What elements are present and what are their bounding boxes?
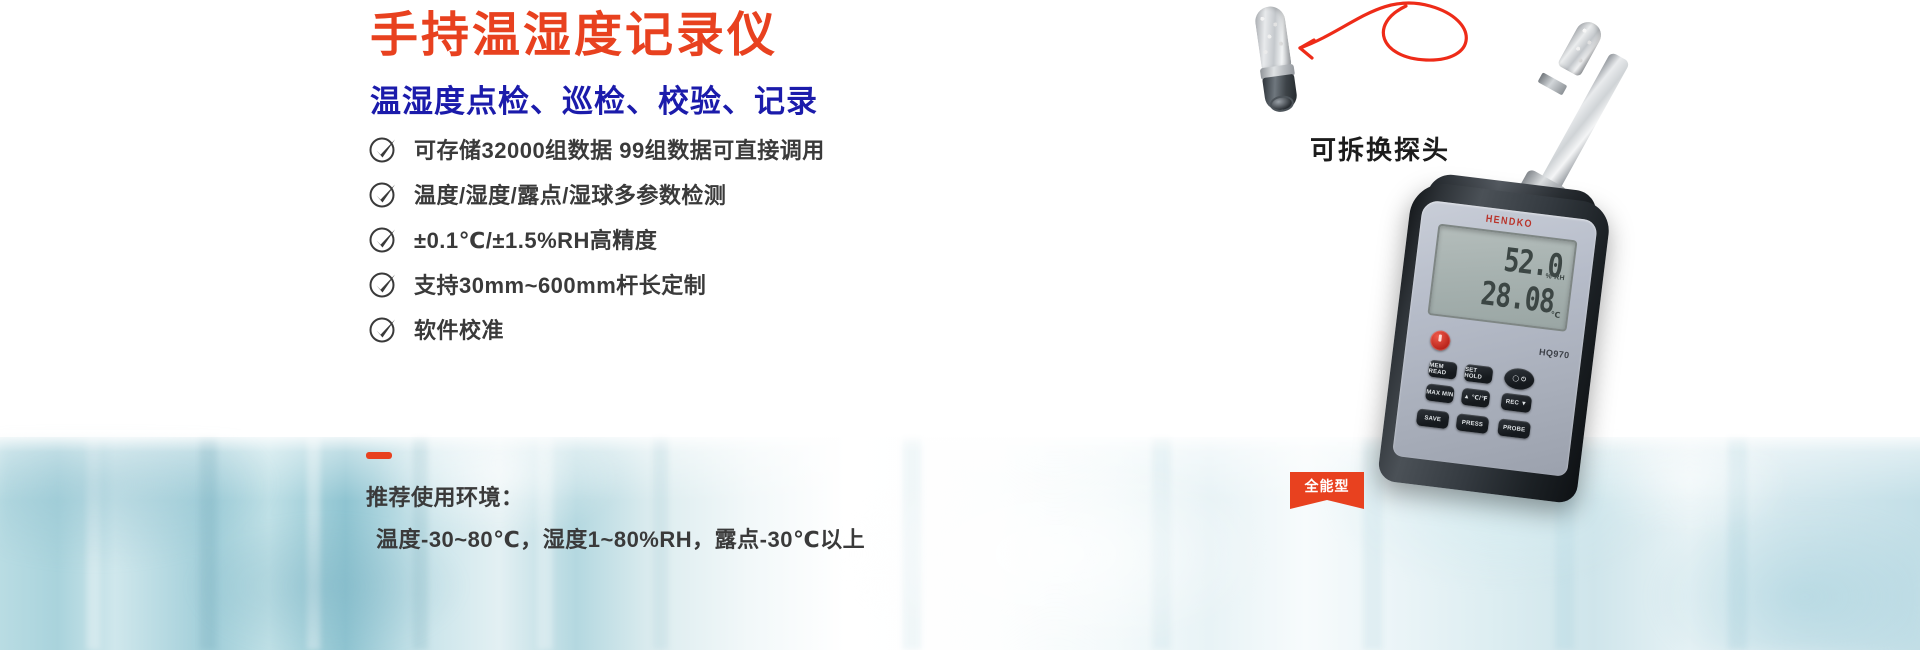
list-item: 支持30mm~600mm杆长定制 [368, 263, 825, 305]
product-banner: 手持温湿度记录仪 温湿度点检、巡检、校验、记录 可存储32000组数据 99组数… [0, 0, 1920, 650]
power-icon[interactable] [1429, 329, 1451, 351]
list-item-label: 支持30mm~600mm杆长定制 [414, 268, 706, 300]
list-item-label: ±0.1℃/±1.5%RH高精度 [414, 223, 657, 255]
sensor-mesh-tip [1557, 17, 1606, 77]
key-button[interactable]: MAX MIN [1425, 383, 1455, 403]
status-badge-label: 全能型 [1305, 476, 1350, 496]
list-item-label: 温度/湿度/露点/湿球多参数检测 [414, 178, 726, 210]
keypad: MEM READ SET HOLD ◯ ⏻ MAX MIN ▲ ℃/℉ REC … [1403, 358, 1569, 468]
check-circle-icon [368, 269, 398, 299]
feature-list: 可存储32000组数据 99组数据可直接调用 温度/湿度/露点/湿球多参数检测 … [368, 128, 825, 353]
model-number-label: HQ970 [1539, 347, 1571, 361]
temperature-reading: 28.08 [1479, 275, 1556, 321]
temperature-unit-label: ℃ [1550, 310, 1561, 320]
device-front-panel: HENDKO 52.0 % RH 28.08 ℃ HQ970 MEM READ … [1392, 199, 1598, 477]
environment-note: 推荐使用环境： 温度-30~80℃，湿度1~80%RH，露点-30℃以上 [366, 452, 865, 561]
list-item-label: 可存储32000组数据 99组数据可直接调用 [414, 133, 825, 165]
key-button[interactable]: PROBE [1497, 418, 1531, 439]
environment-detail: 温度-30~80℃，湿度1~80%RH，露点-30℃以上 [366, 519, 865, 561]
key-button[interactable]: SET HOLD [1464, 364, 1494, 384]
list-item: 可存储32000组数据 99组数据可直接调用 [368, 128, 825, 170]
key-button[interactable]: SAVE [1416, 408, 1450, 429]
list-item: 软件校准 [368, 308, 825, 350]
page-title: 手持温湿度记录仪 [370, 8, 778, 63]
key-button[interactable]: ◯ ⏻ [1503, 367, 1535, 391]
key-button[interactable]: MEM READ [1428, 359, 1458, 379]
probe-callout: 可拆换探头 [1230, 0, 1550, 180]
status-badge: 全能型 [1290, 472, 1364, 500]
list-item: 温度/湿度/露点/湿球多参数检测 [368, 173, 825, 215]
red-dash-divider [366, 452, 392, 459]
key-button[interactable]: PRESS [1456, 413, 1490, 434]
curved-arrow-icon [1230, 0, 1550, 130]
lcd-display: 52.0 % RH 28.08 ℃ [1427, 224, 1577, 332]
check-circle-icon [368, 134, 398, 164]
environment-heading: 推荐使用环境： [366, 477, 865, 519]
list-item: ±0.1℃/±1.5%RH高精度 [368, 218, 825, 260]
probe-callout-label: 可拆换探头 [1230, 130, 1530, 167]
check-circle-icon [368, 314, 398, 344]
page-subtitle: 温湿度点检、巡检、校验、记录 [370, 76, 818, 121]
list-item-label: 软件校准 [414, 313, 504, 345]
key-button[interactable]: REC ▼ [1500, 393, 1532, 414]
check-circle-icon [368, 179, 398, 209]
key-button[interactable]: ▲ ℃/℉ [1461, 388, 1491, 408]
check-circle-icon [368, 224, 398, 254]
